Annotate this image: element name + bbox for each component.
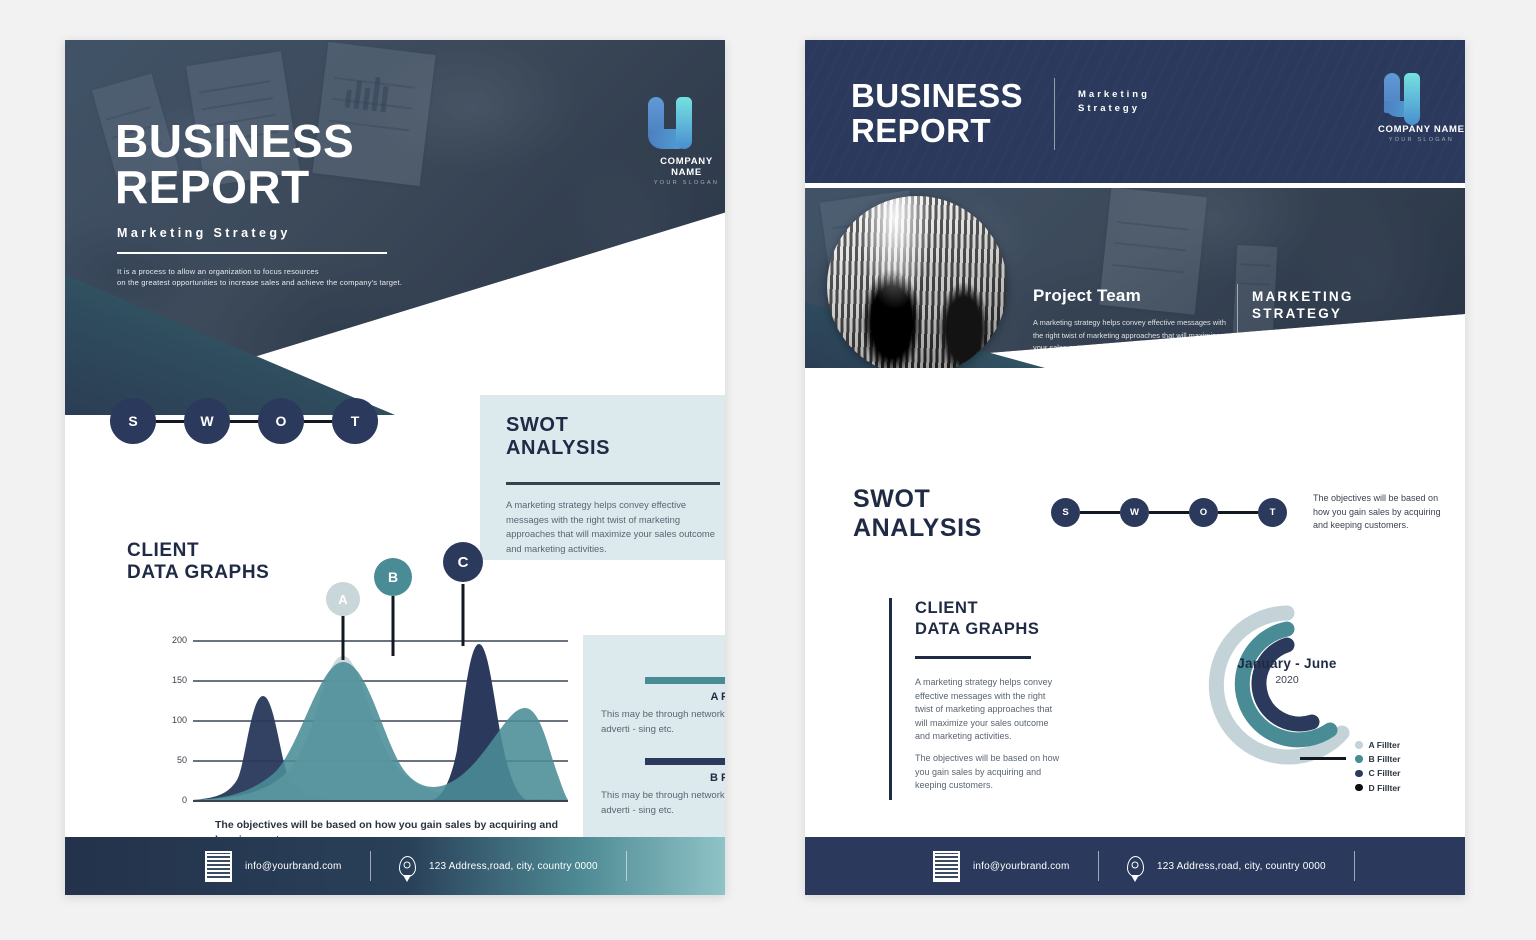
page-two-header: BUSINESS REPORT Marketing Strategy COMPA… (805, 40, 1465, 183)
donut-period: January - June (1192, 656, 1382, 671)
photo-highlight (859, 196, 931, 308)
project-team-block: Project Team A marketing strategy helps … (1033, 286, 1228, 368)
graphs-heading-line-1: CLIENT (915, 598, 1040, 619)
title-line-1: BUSINESS (115, 118, 354, 164)
brand-logo-block: COMPANY NAME YOUR SLOGAN (648, 97, 725, 186)
title-line-2: REPORT (115, 164, 354, 210)
lede-text: It is a process to allow an organization… (117, 266, 447, 288)
page-title: BUSINESS REPORT (851, 78, 1023, 148)
filter-a-body: This may be through networking, adverti … (601, 708, 725, 737)
ytick-0: 0 (182, 795, 187, 805)
chain-link (304, 420, 332, 423)
graphs-para-2: The objectives will be based on how you … (915, 752, 1065, 793)
filter-a-title: A Fillter (710, 691, 725, 703)
area-chart-curves (193, 600, 568, 802)
graphs-heading-line-1: CLIENT (127, 540, 269, 562)
graphs-heading-line-2: DATA GRAPHS (127, 562, 269, 584)
donut-center-label: January - June 2020 (1192, 656, 1382, 686)
marketing-strategy-heading: MARKETING STRATEGY (1252, 288, 1447, 322)
footer-divider (626, 851, 627, 881)
swot-heading-line-1: SWOT (853, 485, 982, 514)
swot-note: The objectives will be based on how you … (1313, 492, 1453, 533)
area-chart: 200 150 100 50 0 A B C (193, 600, 568, 805)
legend-label-d: D Fillter (1369, 783, 1401, 793)
legend-swatch-d (1355, 784, 1363, 792)
page-subtitle: Marketing Strategy (117, 226, 291, 240)
footer-divider (1098, 851, 1099, 881)
legend-label-a: A Fillter (1369, 740, 1401, 750)
footer-address: 123 Address,road, city, country 0000 (429, 861, 598, 872)
swot-card-heading: SWOT ANALYSIS (506, 414, 610, 460)
swot-node-t[interactable]: T (332, 398, 378, 444)
swot-node-s[interactable]: S (110, 398, 156, 444)
page-one-footer: info@yourbrand.com 123 Address,road, cit… (65, 837, 725, 895)
chain-link (1149, 511, 1189, 514)
client-data-accent-bar (889, 598, 892, 800)
page-one-header: BUSINESS REPORT Marketing Strategy It is… (65, 40, 725, 415)
radial-donut-chart: January - June 2020 (1192, 600, 1382, 770)
marketing-strategy-block: MARKETING STRATEGY A marketing strategy … (1252, 288, 1447, 368)
footer-divider (370, 851, 371, 881)
ms-heading-line-1: MARKETING (1252, 288, 1447, 305)
graphs-para-1: A marketing strategy helps convey effect… (915, 676, 1065, 744)
filter-b-body: This may be through networking, adverti … (601, 789, 725, 818)
ytick-100: 100 (172, 715, 187, 725)
location-pin-icon (399, 856, 416, 877)
company-slogan: YOUR SLOGAN (648, 180, 725, 186)
page-two-photo-band: Project Team A marketing strategy helps … (805, 188, 1465, 368)
ytick-150: 150 (172, 675, 187, 685)
title-line-1: BUSINESS (851, 78, 1023, 113)
filter-b-swatch (645, 758, 725, 765)
swot-node-w[interactable]: W (1120, 498, 1149, 527)
page-title: BUSINESS REPORT (115, 118, 354, 210)
ms-heading-line-2: STRATEGY (1252, 305, 1447, 322)
swot-heading: SWOT ANALYSIS (853, 485, 982, 543)
legend-item[interactable]: D Fillter (1355, 783, 1401, 793)
filter-b-title: B Fillter (710, 772, 725, 784)
footer-divider (1354, 851, 1355, 881)
qr-code-icon[interactable] (205, 851, 232, 882)
company-slogan: YOUR SLOGAN (1378, 137, 1465, 143)
chain-link (1218, 511, 1258, 514)
poster-canvas: BUSINESS REPORT Marketing Strategy It is… (0, 0, 1536, 940)
title-divider (117, 252, 387, 254)
project-team-para-1: A marketing strategy helps convey effect… (1033, 317, 1228, 355)
swot-analysis-card: SWOT ANALYSIS A marketing strategy helps… (480, 395, 725, 560)
swot-node-o[interactable]: O (258, 398, 304, 444)
chart-marker-b-label: B (374, 558, 412, 596)
swot-node-s[interactable]: S (1051, 498, 1080, 527)
swot-heading-line-2: ANALYSIS (853, 514, 982, 543)
swot-node-o[interactable]: O (1189, 498, 1218, 527)
lede-line-1: It is a process to allow an organization… (117, 266, 447, 277)
lede-line-2: on the greatest opportunities to increas… (117, 277, 447, 288)
client-data-graphs-heading: CLIENT DATA GRAPHS (127, 540, 269, 584)
footer-address: 123 Address,road, city, country 0000 (1157, 861, 1326, 872)
donut-year: 2020 (1192, 674, 1382, 686)
u-logo-icon (1384, 73, 1420, 117)
company-name: COMPANY NAME (1378, 124, 1465, 135)
footer-email[interactable]: info@yourbrand.com (245, 861, 342, 872)
ytick-50: 50 (177, 755, 187, 765)
title-line-2: REPORT (851, 113, 1023, 148)
chart-marker-c-label: C (443, 542, 483, 582)
filter-a-swatch (645, 677, 725, 684)
legend-label-c: C Fillter (1369, 768, 1401, 778)
swot-heading-line-1: SWOT (506, 414, 610, 437)
legend-swatch-a (1355, 741, 1363, 749)
brand-logo-block: COMPANY NAME YOUR SLOGAN (1378, 73, 1465, 143)
legend-item[interactable]: A Fillter (1355, 740, 1401, 750)
graphs-divider (915, 656, 1031, 659)
swot-heading-line-2: ANALYSIS (506, 437, 610, 460)
footer-email[interactable]: info@yourbrand.com (973, 861, 1070, 872)
swot-node-w[interactable]: W (184, 398, 230, 444)
project-team-heading: Project Team (1033, 286, 1228, 306)
location-pin-icon (1127, 856, 1144, 877)
qr-code-icon[interactable] (933, 851, 960, 882)
swot-node-t[interactable]: T (1258, 498, 1287, 527)
swot-card-body: A marketing strategy helps convey effect… (506, 498, 724, 556)
graphs-heading-line-2: DATA GRAPHS (915, 619, 1040, 640)
swot-chain: S W O T (1051, 498, 1287, 527)
client-data-graphs-heading: CLIENT DATA GRAPHS (915, 598, 1040, 640)
donut-legend: A Fillter B Fillter C Fillter D Fillter (1355, 740, 1401, 797)
chart-marker-a-label: A (326, 582, 360, 616)
swot-card-divider (506, 482, 720, 485)
page-two-footer: info@yourbrand.com 123 Address,road, cit… (805, 837, 1465, 895)
band-divider (1237, 284, 1238, 368)
chain-link (1080, 511, 1120, 514)
company-name: COMPANY NAME (648, 156, 725, 178)
header-divider (1054, 78, 1055, 150)
chain-link (230, 420, 258, 423)
filter-legend-card: A Fillter This may be through networking… (583, 635, 725, 847)
project-team-para-2: The objectives will be based on how you … (1033, 366, 1228, 369)
legend-item[interactable]: B Fillter (1355, 754, 1401, 764)
team-photo (827, 196, 1007, 368)
u-logo-icon (648, 97, 692, 149)
marketing-strategy-para-1: A marketing strategy helps convey effect… (1252, 333, 1447, 368)
subtitle-line-2: Strategy (1078, 102, 1150, 116)
page-one: BUSINESS REPORT Marketing Strategy It is… (65, 40, 725, 895)
legend-item[interactable]: C Fillter (1355, 768, 1401, 778)
chain-link (156, 420, 184, 423)
subtitle-line-1: Marketing (1078, 88, 1150, 102)
header-subtitle: Marketing Strategy (1078, 88, 1150, 116)
donut-leader-line (1300, 757, 1346, 760)
legend-swatch-c (1355, 770, 1363, 778)
legend-label-b: B Fillter (1369, 754, 1401, 764)
legend-swatch-b (1355, 755, 1363, 763)
swot-chain: S W O T (110, 398, 378, 444)
ytick-200: 200 (172, 635, 187, 645)
